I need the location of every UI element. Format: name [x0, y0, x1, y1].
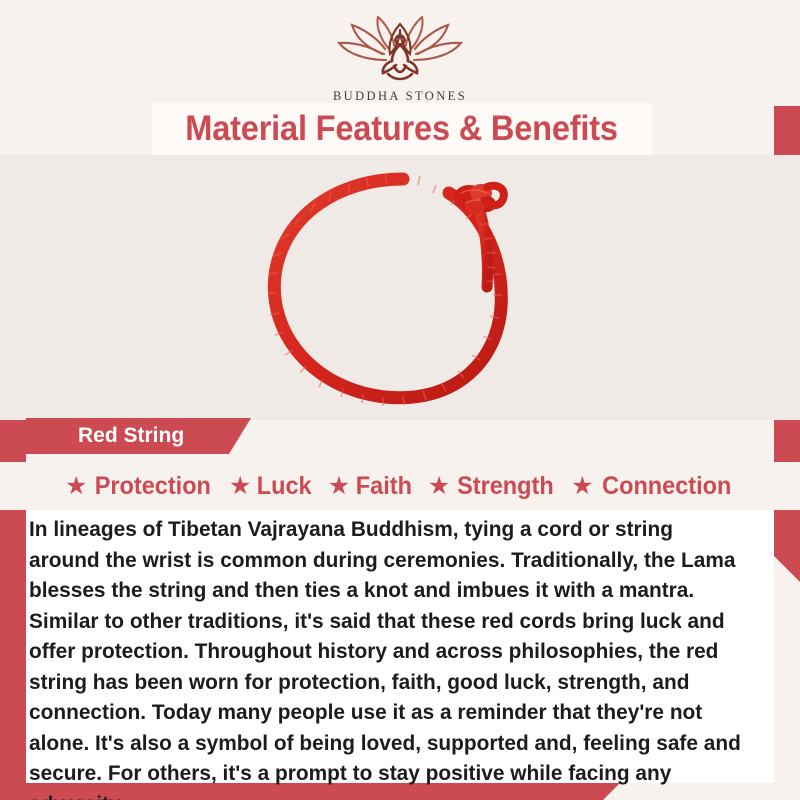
benefit-label: Protection: [95, 472, 211, 501]
benefit-item: ★ Faith: [328, 472, 414, 501]
star-icon: ★: [65, 474, 87, 499]
brand-logo: BUDDHA STONES: [0, 16, 800, 104]
lotus-meditation-icon: [326, 16, 474, 88]
benefit-item: ★ Connection: [571, 472, 735, 501]
infographic-page: BUDDHA STONES Material Features & Benefi…: [0, 0, 800, 800]
star-icon: ★: [571, 474, 593, 499]
benefit-label: Strength: [457, 472, 554, 501]
benefit-item: ★ Luck: [229, 472, 314, 501]
brand-name: BUDDHA STONES: [0, 89, 800, 104]
benefit-label: Luck: [257, 472, 312, 501]
page-title: Material Features & Benefits: [186, 109, 619, 149]
red-string-bracelet-image: [235, 167, 565, 417]
star-icon: ★: [328, 474, 350, 499]
material-label: Red String: [78, 424, 184, 448]
star-icon: ★: [428, 474, 450, 499]
benefits-row: ★ Protection ★ Luck ★ Faith ★ Strength ★…: [0, 462, 800, 510]
description-text: In lineages of Tibetan Vajrayana Buddhis…: [29, 514, 742, 800]
benefit-item: ★ Protection: [65, 472, 215, 501]
hero-section: [0, 155, 800, 420]
benefit-item: ★ Strength: [428, 472, 557, 501]
star-icon: ★: [229, 474, 251, 499]
header: BUDDHA STONES: [0, 0, 800, 106]
material-label-banner: Red String: [26, 418, 251, 454]
benefit-label: Faith: [356, 472, 412, 501]
benefit-label: Connection: [602, 472, 731, 501]
description-block: In lineages of Tibetan Vajrayana Buddhis…: [26, 510, 774, 783]
title-banner: Material Features & Benefits: [152, 103, 652, 155]
